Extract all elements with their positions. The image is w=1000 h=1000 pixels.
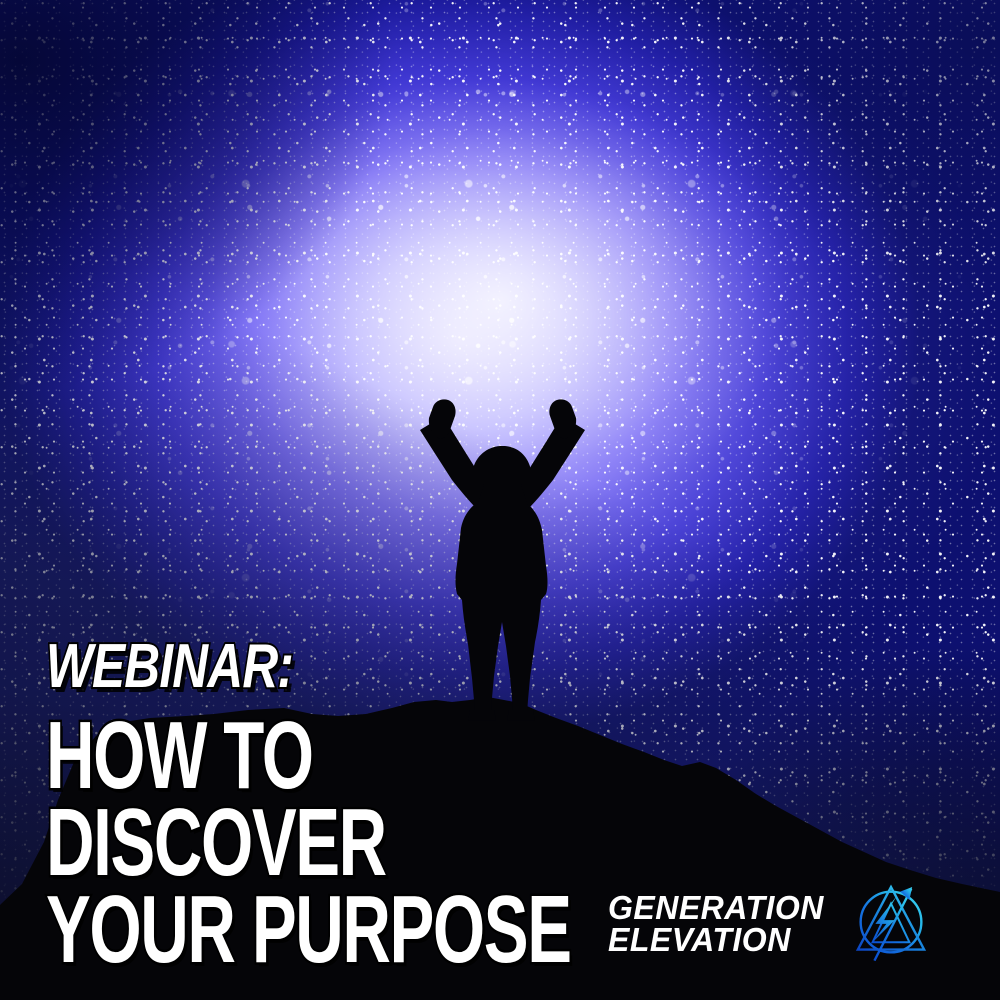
brand-logo: GENERATION ELEVATION (608, 880, 937, 968)
promo-text-block: WEBINAR: HOW TO DISCOVER YOUR PURPOSE (46, 636, 606, 978)
headline-line-1: HOW TO (46, 718, 438, 795)
kicker-label: WEBINAR: (46, 636, 494, 698)
headline-line-2: DISCOVER (46, 805, 438, 882)
brand-wordmark: GENERATION ELEVATION (608, 892, 831, 955)
brand-name-line-2: ELEVATION (608, 924, 824, 956)
generation-elevation-logo-mark-icon (845, 876, 937, 968)
headline: HOW TO DISCOVER YOUR PURPOSE (46, 718, 606, 968)
headline-line-3: YOUR PURPOSE (46, 892, 438, 969)
webinar-promo-poster: WEBINAR: HOW TO DISCOVER YOUR PURPOSE GE… (0, 0, 1000, 1000)
brand-name-line-1: GENERATION (608, 892, 824, 924)
